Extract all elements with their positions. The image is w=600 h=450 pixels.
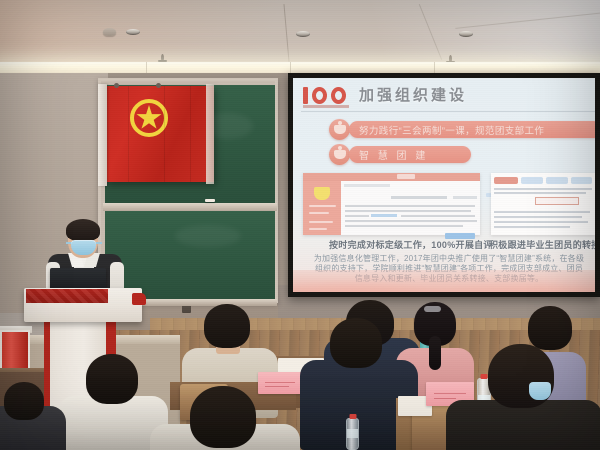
classroom-lecture-photo: 加强组织建设 努力践行“三会两制”一课，规范团支部工作 智 慧 团 建 <box>0 0 600 450</box>
slide-title-divider <box>301 111 595 112</box>
pink-document <box>258 372 302 394</box>
hair-bow-clip-icon <box>424 306 441 312</box>
flag-clip-icon <box>114 83 119 88</box>
slide-wave-decoration-lower <box>293 270 595 292</box>
screenshot-caption-1: 按时完成对标定级工作，100%开展自评 <box>329 238 493 251</box>
member-transfer-list-screenshot <box>491 173 595 235</box>
student-head <box>4 382 44 420</box>
slide-bullet-pill-2: 智 慧 团 建 <box>349 146 471 163</box>
sprinkler-head-icon <box>161 54 164 62</box>
communist-youth-league-flag <box>106 86 214 182</box>
student-head <box>528 306 572 350</box>
smoke-detector-icon <box>103 28 116 36</box>
air-vent-icon <box>296 31 310 37</box>
slide-bullet-pill-1: 努力践行“三会两制”一课，规范团支部工作 <box>349 121 595 138</box>
projected-slide: 加强组织建设 努力践行“三会两制”一课，规范团支部工作 智 慧 团 建 <box>293 78 595 292</box>
podium-red-corner <box>132 293 146 305</box>
student-head <box>86 354 138 404</box>
student-head <box>204 304 250 348</box>
blue-surgical-mask <box>71 240 96 255</box>
slide-title: 加强组织建设 <box>359 84 467 105</box>
blue-surgical-mask <box>529 382 551 400</box>
podium-red-trim <box>26 289 108 303</box>
flag-hem-left <box>98 84 107 186</box>
chalk-piece <box>205 199 215 202</box>
projection-screen: 加强组织建设 努力践行“三会两制”一课，规范团支部工作 智 慧 团 建 <box>288 73 600 297</box>
cpc-100-anniversary-logo <box>303 85 349 109</box>
student-head <box>330 318 382 368</box>
screenshot-caption-2: 积极跟进毕业生团员的转接工作 <box>489 238 595 251</box>
chalkboard-lower-panel <box>105 211 275 299</box>
water-bottle <box>346 418 359 450</box>
zhihui-tuanjian-portal-screenshot <box>303 173 480 235</box>
flag-clip-icon <box>156 83 161 88</box>
league-emblem-icon <box>329 119 350 140</box>
air-vent-icon <box>459 31 473 37</box>
flag-hem-right <box>206 84 214 184</box>
student-ponytail <box>429 336 441 370</box>
air-vent-icon <box>126 29 140 35</box>
speaker-hair <box>66 219 100 241</box>
ceiling-light-strip <box>0 62 600 73</box>
league-emblem-icon <box>329 144 350 165</box>
student-head <box>190 386 256 448</box>
chalk-rail <box>103 203 277 211</box>
